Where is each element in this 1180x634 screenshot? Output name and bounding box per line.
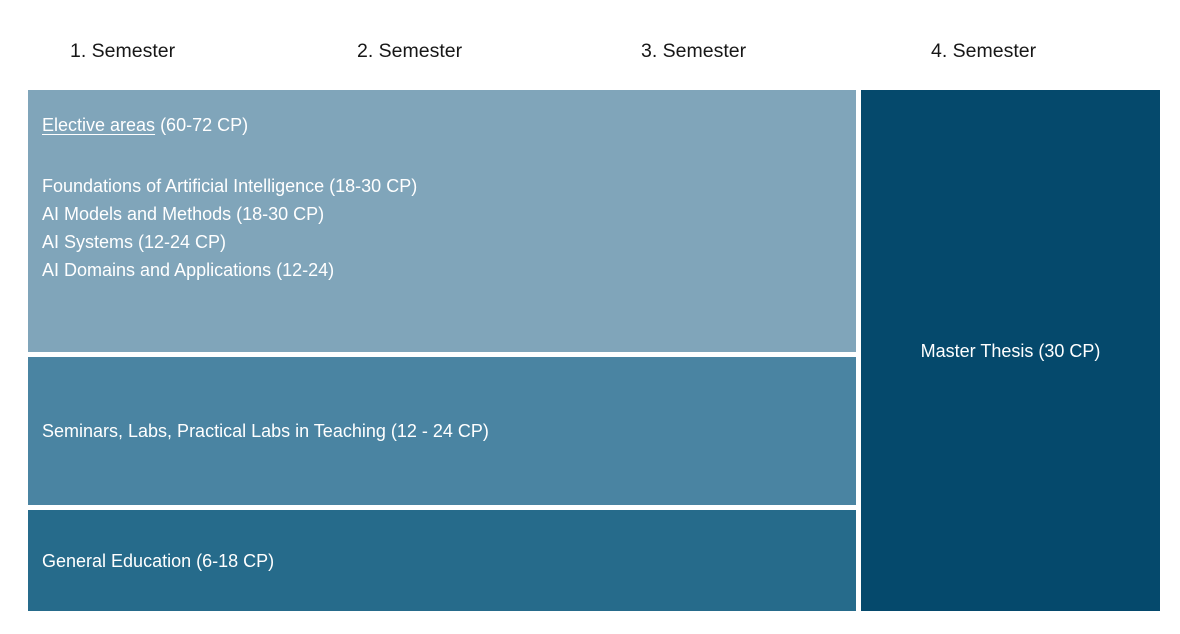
master-thesis-label: Master Thesis (30 CP)	[921, 338, 1101, 364]
elective-areas-list: Foundations of Artificial Intelligence (…	[42, 172, 842, 284]
general-education-label: General Education (6-18 CP)	[42, 548, 274, 574]
elective-areas-title: Elective areas	[42, 115, 155, 135]
semester-header-row: 1. Semester 2. Semester 3. Semester 4. S…	[0, 38, 1180, 70]
elective-areas-credits: (60-72 CP)	[155, 115, 248, 135]
semester-label-2: 2. Semester	[357, 38, 462, 64]
curriculum-blocks: Elective areas (60-72 CP) Foundations of…	[28, 90, 1160, 611]
elective-areas-heading: Elective areas (60-72 CP)	[42, 112, 842, 138]
list-item: AI Systems (12-24 CP)	[42, 228, 842, 256]
semester-label-3: 3. Semester	[641, 38, 746, 64]
semester-label-4: 4. Semester	[931, 38, 1036, 64]
seminars-labs-label: Seminars, Labs, Practical Labs in Teachi…	[42, 418, 489, 444]
semester-label-1: 1. Semester	[70, 38, 175, 64]
block-general-education: General Education (6-18 CP)	[28, 510, 856, 611]
list-item: Foundations of Artificial Intelligence (…	[42, 172, 842, 200]
list-item: AI Models and Methods (18-30 CP)	[42, 200, 842, 228]
semesters-1-3-column: Elective areas (60-72 CP) Foundations of…	[28, 90, 856, 611]
curriculum-diagram-page: 1. Semester 2. Semester 3. Semester 4. S…	[0, 0, 1180, 634]
block-seminars-labs: Seminars, Labs, Practical Labs in Teachi…	[28, 357, 856, 505]
block-elective-areas: Elective areas (60-72 CP) Foundations of…	[28, 90, 856, 352]
block-master-thesis: Master Thesis (30 CP)	[861, 90, 1160, 611]
list-item: AI Domains and Applications (12-24)	[42, 256, 842, 284]
